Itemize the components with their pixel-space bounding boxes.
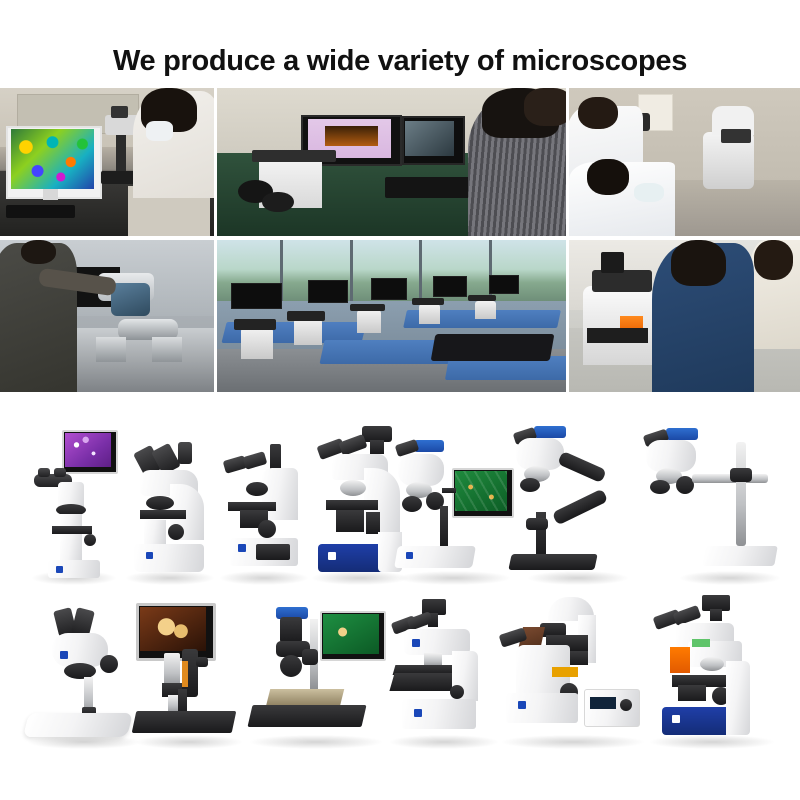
product-item-13[interactable] (648, 595, 776, 745)
product-item-10[interactable] (246, 605, 386, 745)
photo-collage: Technician in a mask looking into an upr… (0, 88, 800, 392)
collage-photo-1: Technician in a mask looking into an upr… (0, 88, 214, 236)
product-5-camera-cap (414, 440, 444, 452)
product-item-5[interactable] (396, 434, 516, 582)
collage-photo-5: Classroom filled with rows of biological… (217, 240, 566, 392)
product-item-3[interactable] (218, 444, 310, 582)
product-item-9[interactable] (134, 603, 244, 745)
product-showcase (0, 408, 800, 800)
collage-photo-6: Man in a blue polo shirt adjusting a flu… (569, 240, 800, 392)
collage-photo-2: Engineer at a green ESD workbench operat… (217, 88, 566, 236)
product-12-controller-display (590, 697, 616, 709)
page-root: We produce a wide variety of microscopes (0, 0, 800, 800)
collage-row-1: Technician in a mask looking into an upr… (0, 88, 800, 236)
product-item-2[interactable] (124, 440, 216, 582)
product-row-2 (0, 590, 800, 745)
product-item-11[interactable] (388, 599, 500, 745)
page-title: We produce a wide variety of microscopes (0, 41, 800, 81)
product-item-1[interactable] (30, 430, 118, 582)
collage-photo-4: Operator inspecting machined metal cylin… (0, 240, 214, 392)
collage-photo-3: Two researchers in white lab coats assem… (569, 88, 800, 236)
product-row-1 (0, 422, 800, 582)
product-item-12[interactable] (500, 597, 646, 745)
product-item-8[interactable] (26, 609, 142, 745)
product-item-6[interactable] (508, 426, 638, 582)
collage-row-2: Operator inspecting machined metal cylin… (0, 240, 800, 392)
product-item-7[interactable] (632, 424, 782, 582)
